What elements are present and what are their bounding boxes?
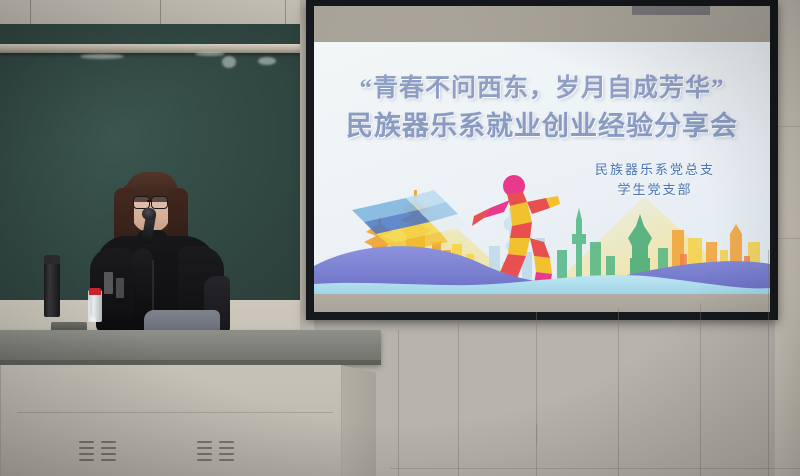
chalk-smudge — [80, 54, 124, 59]
wall-tile-seam — [618, 308, 619, 476]
chalkboard-top-trim — [0, 44, 300, 53]
chalk-smudge — [195, 52, 225, 56]
lectern-podium — [0, 330, 381, 476]
projection-screen-surface: “青春不问西东，岁月自成芳华” 民族器乐系就业创业经验分享会 民族器乐系党总支 … — [314, 6, 770, 312]
jacket-patch — [104, 272, 113, 294]
screen-bottom-dead-band — [314, 294, 770, 312]
wall-tile-seam — [398, 330, 399, 476]
slide-subtitle-line-1: 民族器乐系党总支 — [550, 159, 760, 178]
podium-seam — [17, 412, 333, 413]
wall-tile-seam — [390, 468, 800, 469]
podium-front-panel — [0, 365, 342, 476]
slide-subtitle-line-2: 学生党支部 — [550, 179, 760, 198]
wall-tile-seam — [778, 238, 800, 239]
podium-side-panel — [340, 365, 376, 476]
slide-title-line-1: “青春不问西东，岁月自成芳华” — [314, 68, 770, 104]
classroom-photo-scene: “青春不问西东，岁月自成芳华” 民族器乐系就业创业经验分享会 民族器乐系党总支 … — [0, 0, 800, 476]
water-bottle-cap — [89, 288, 101, 295]
thermos-flask — [44, 255, 60, 317]
screen-top-marker — [632, 6, 710, 15]
wall-crack — [536, 404, 538, 464]
wall-tile-seam — [778, 126, 800, 127]
slide-title-line-2: 民族器乐系就业创业经验分享会 — [314, 104, 770, 143]
thermos-cap — [44, 255, 60, 264]
jacket-patch — [116, 278, 124, 298]
projection-screen-frame: “青春不问西东，岁月自成芳华” 民族器乐系就业创业经验分享会 民族器乐系党总支 … — [306, 0, 778, 320]
eyeglasses-icon — [151, 196, 168, 209]
chalk-smudge — [222, 56, 236, 68]
wall-tile-seam — [458, 320, 459, 476]
chalk-smudge — [258, 57, 276, 65]
podium-desktop — [0, 330, 381, 364]
presentation-slide: “青春不问西东，岁月自成芳华” 民族器乐系就业创业经验分享会 民族器乐系党总支 … — [314, 42, 770, 294]
eyeglasses-bridge — [147, 200, 152, 202]
seated-presenter — [86, 168, 226, 333]
wall-tile-seam — [768, 250, 769, 476]
wall-tile-seam — [700, 304, 701, 476]
